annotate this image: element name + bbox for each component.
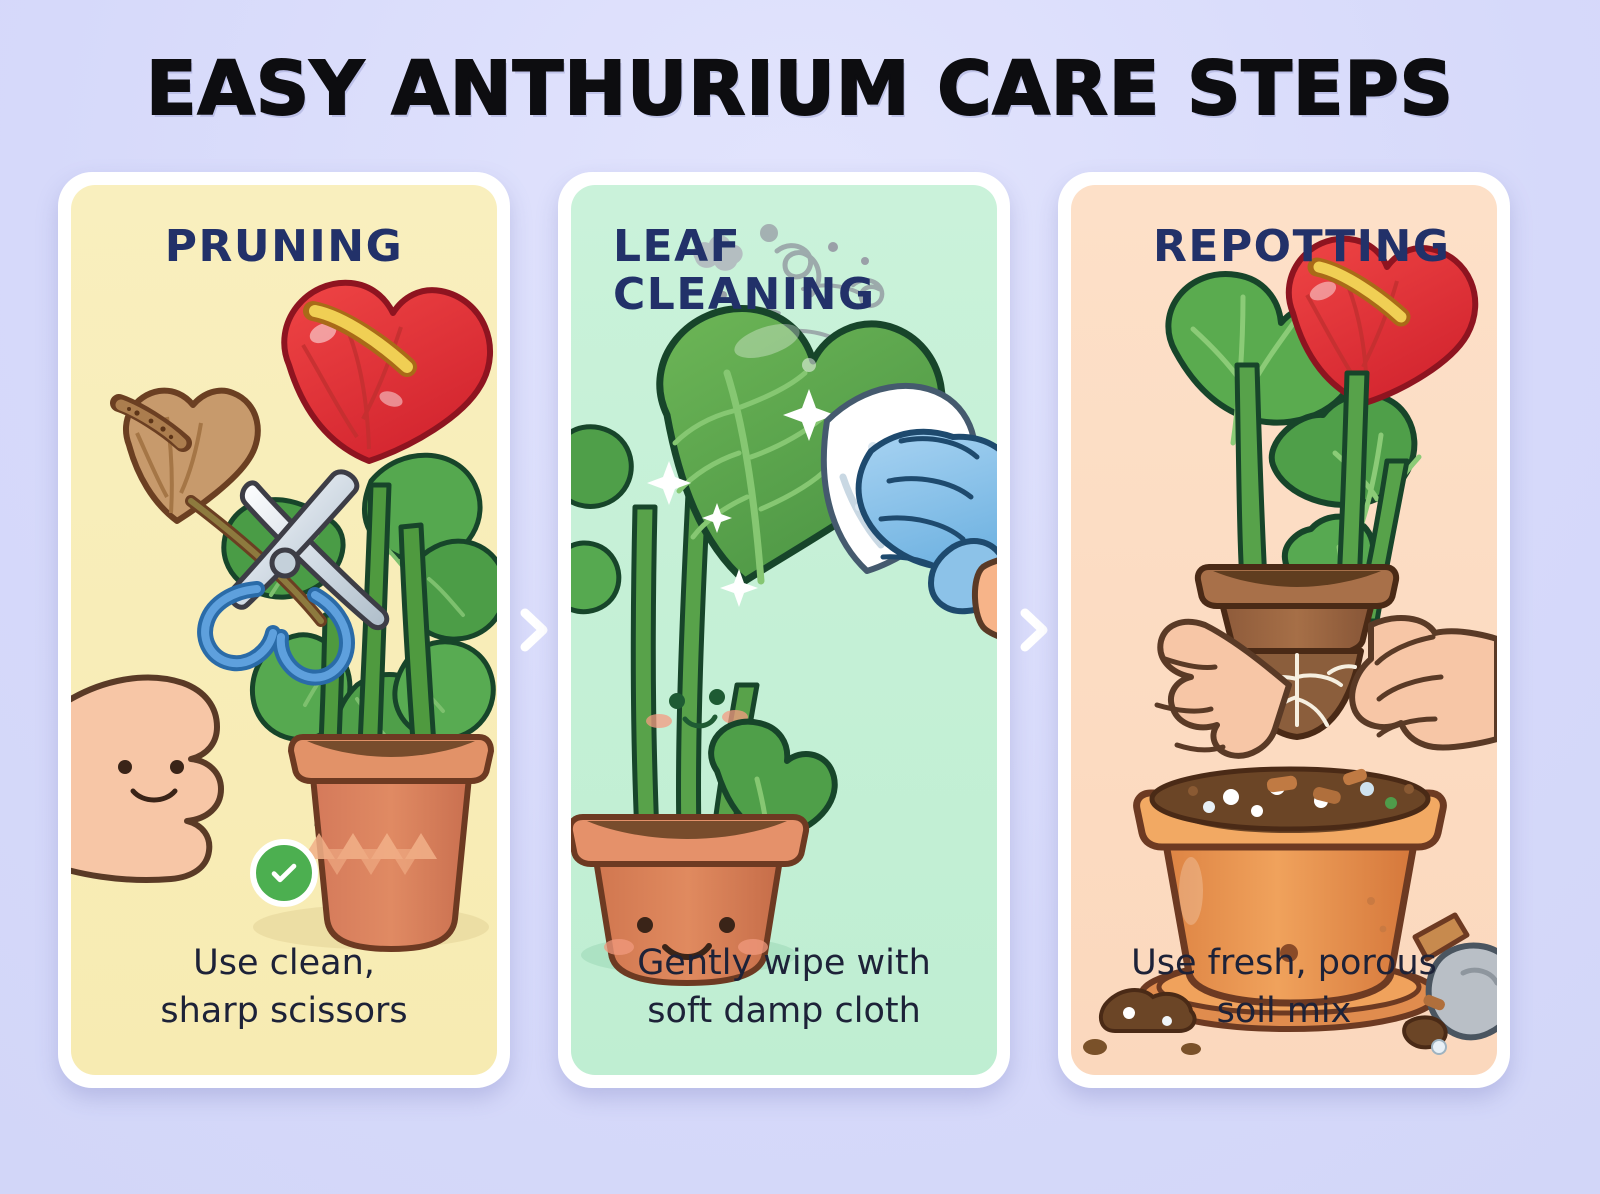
card-surface-leaf-cleaning: LEAF CLEANING Gently wipe with soft damp… — [571, 185, 997, 1075]
check-icon — [267, 856, 301, 890]
card-caption-pruning: Use clean, sharp scissors — [71, 939, 497, 1035]
step-separator-1 — [510, 172, 558, 1088]
caption-line-2: soft damp cloth — [597, 987, 971, 1035]
page-title: EASY ANTHURIUM CARE STEPS — [0, 46, 1600, 132]
card-caption-leaf-cleaning: Gently wipe with soft damp cloth — [571, 939, 997, 1035]
step-card-repotting[interactable]: REPOTTING Use fresh, porous soil mix — [1058, 172, 1510, 1088]
card-surface-repotting: REPOTTING Use fresh, porous soil mix — [1071, 185, 1497, 1075]
caption-line-2: soil mix — [1097, 987, 1471, 1035]
check-badge — [250, 839, 318, 907]
caption-line-1: Use clean, — [97, 939, 471, 987]
card-title-repotting: REPOTTING — [1071, 223, 1450, 271]
small-leaves — [571, 427, 631, 612]
caption-line-1: Gently wipe with — [597, 939, 971, 987]
caption-line-1: Use fresh, porous — [1097, 939, 1471, 987]
red-anthurium-flower — [284, 283, 490, 461]
blue-rubber-glove — [859, 432, 997, 647]
card-title-pruning: PRUNING — [71, 223, 497, 271]
card-title-leaf-cleaning: LEAF CLEANING — [571, 223, 997, 319]
card-caption-repotting: Use fresh, porous soil mix — [1071, 939, 1497, 1035]
infographic-page: EASY ANTHURIUM CARE STEPS — [0, 0, 1600, 1194]
smiling-hand — [71, 678, 221, 880]
step-card-leaf-cleaning[interactable]: LEAF CLEANING Gently wipe with soft damp… — [558, 172, 1010, 1088]
card-surface-pruning: PRUNING Use clean, sharp scissors — [71, 185, 497, 1075]
step-separator-2 — [1010, 172, 1058, 1088]
chevron-right-icon — [1016, 607, 1052, 653]
caption-line-2: sharp scissors — [97, 987, 471, 1035]
step-cards-row: PRUNING Use clean, sharp scissors — [58, 172, 1542, 1088]
step-card-pruning[interactable]: PRUNING Use clean, sharp scissors — [58, 172, 510, 1088]
chevron-right-icon — [516, 607, 552, 653]
